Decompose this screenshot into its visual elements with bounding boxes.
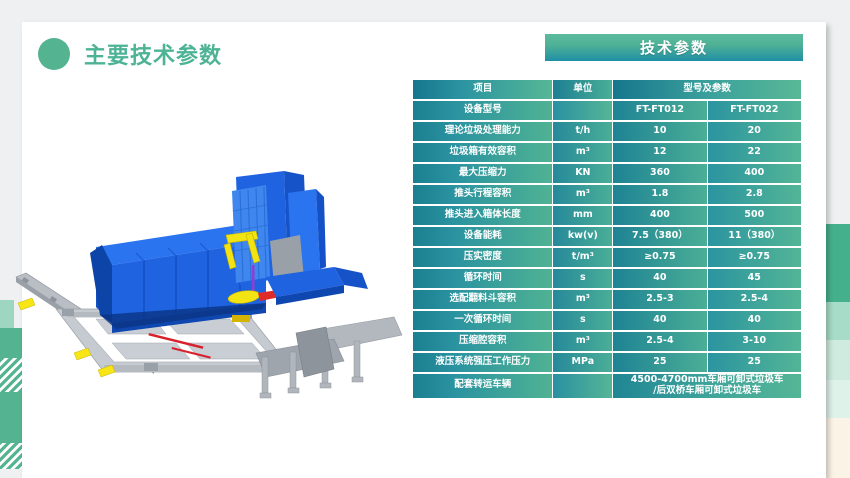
row-unit-value [553, 101, 612, 120]
table-row: 推头进入箱体长度 mm 400 500 [413, 206, 801, 225]
table-row: 选配翻料斗容积 m³ 2.5-3 2.5-4 [413, 290, 801, 309]
row-unit-value: m³ [553, 290, 612, 309]
col-header-unit: 单位 [553, 80, 612, 99]
table-row: 理论垃圾处理能力 t/h 10 20 [413, 122, 801, 141]
table-header-row: 项目 单位 型号及参数 [413, 80, 801, 99]
row-item-label: 推头行程容积 [413, 185, 552, 204]
row-unit-value: t/m³ [553, 248, 612, 267]
row-unit-value: m³ [553, 185, 612, 204]
slide-card: 主要技术参数 技术参数 [22, 22, 826, 478]
row-item-label: 压实密度 [413, 248, 552, 267]
row-model2-value: 11（380） [708, 227, 801, 246]
page-title: 主要技术参数 [38, 38, 222, 70]
machine-render-illustration [4, 157, 404, 407]
row-unit-value: mm [553, 206, 612, 225]
row-model1-value: 7.5（380） [613, 227, 706, 246]
row-unit-value: m³ [553, 332, 612, 351]
row-item-label: 最大压缩力 [413, 164, 552, 183]
tech-parameters-table: 项目 单位 型号及参数 设备型号 FT-FT012 FT-FT022 理论垃圾处… [412, 78, 802, 400]
row-item-label: 一次循环时间 [413, 311, 552, 330]
row-vehicle-value: 4500-4700mm车厢可卸式垃圾车 /后双桥车厢可卸式垃圾车 [613, 374, 801, 398]
table-row: 设备型号 FT-FT012 FT-FT022 [413, 101, 801, 120]
row-model2-value: 3-10 [708, 332, 801, 351]
row-item-label: 垃圾箱有效容积 [413, 143, 552, 162]
section-banner-label: 技术参数 [640, 37, 708, 58]
row-vehicle-value-line2: /后双桥车厢可卸式垃圾车 [615, 386, 799, 397]
row-model1-value: 25 [613, 353, 706, 372]
row-model2-value: 40 [708, 311, 801, 330]
row-item-label: 压缩腔容积 [413, 332, 552, 351]
row-item-label: 设备能耗 [413, 227, 552, 246]
row-model2-value: 2.8 [708, 185, 801, 204]
row-model1-value: 360 [613, 164, 706, 183]
row-model1-value: 400 [613, 206, 706, 225]
row-unit-value: KN [553, 164, 612, 183]
row-item-label: 配套转运车辆 [413, 374, 552, 398]
table-row: 垃圾箱有效容积 m³ 12 22 [413, 143, 801, 162]
row-model1-value: 2.5-3 [613, 290, 706, 309]
table-row: 循环时间 s 40 45 [413, 269, 801, 288]
row-item-label: 选配翻料斗容积 [413, 290, 552, 309]
row-item-label: 循环时间 [413, 269, 552, 288]
table-row: 压实密度 t/m³ ≥0.75 ≥0.75 [413, 248, 801, 267]
row-model2-value: 22 [708, 143, 801, 162]
row-model1-value: FT-FT012 [613, 101, 706, 120]
row-model2-value: 25 [708, 353, 801, 372]
row-unit-value: t/h [553, 122, 612, 141]
table-row: 液压系统强压工作压力 MPa 25 25 [413, 353, 801, 372]
row-unit-value [553, 374, 612, 398]
table-row: 一次循环时间 s 40 40 [413, 311, 801, 330]
col-header-item: 项目 [413, 80, 552, 99]
section-banner: 技术参数 [545, 34, 803, 61]
row-model2-value: FT-FT022 [708, 101, 801, 120]
row-item-label: 设备型号 [413, 101, 552, 120]
row-model1-value: 40 [613, 311, 706, 330]
page-title-label: 主要技术参数 [84, 38, 222, 70]
row-unit-value: MPa [553, 353, 612, 372]
row-model2-value: 20 [708, 122, 801, 141]
table-row: 最大压缩力 KN 360 400 [413, 164, 801, 183]
row-item-label: 液压系统强压工作压力 [413, 353, 552, 372]
row-unit-value: s [553, 269, 612, 288]
row-model1-value: 40 [613, 269, 706, 288]
bullet-dot-icon [38, 38, 70, 70]
table-row: 设备能耗 kw(v) 7.5（380） 11（380） [413, 227, 801, 246]
row-unit-value: s [553, 311, 612, 330]
row-model2-value: 45 [708, 269, 801, 288]
row-model2-value: 500 [708, 206, 801, 225]
row-model2-value: 2.5-4 [708, 290, 801, 309]
row-item-label: 理论垃圾处理能力 [413, 122, 552, 141]
row-model1-value: 10 [613, 122, 706, 141]
row-model1-value: 2.5-4 [613, 332, 706, 351]
row-model1-value: ≥0.75 [613, 248, 706, 267]
row-unit-value: m³ [553, 143, 612, 162]
row-model2-value: ≥0.75 [708, 248, 801, 267]
row-unit-value: kw(v) [553, 227, 612, 246]
table-row: 压缩腔容积 m³ 2.5-4 3-10 [413, 332, 801, 351]
row-model1-value: 1.8 [613, 185, 706, 204]
table-row-last: 配套转运车辆 4500-4700mm车厢可卸式垃圾车 /后双桥车厢可卸式垃圾车 [413, 374, 801, 398]
row-model2-value: 400 [708, 164, 801, 183]
row-item-label: 推头进入箱体长度 [413, 206, 552, 225]
table-row: 推头行程容积 m³ 1.8 2.8 [413, 185, 801, 204]
col-header-model-params: 型号及参数 [613, 80, 801, 99]
row-model1-value: 12 [613, 143, 706, 162]
